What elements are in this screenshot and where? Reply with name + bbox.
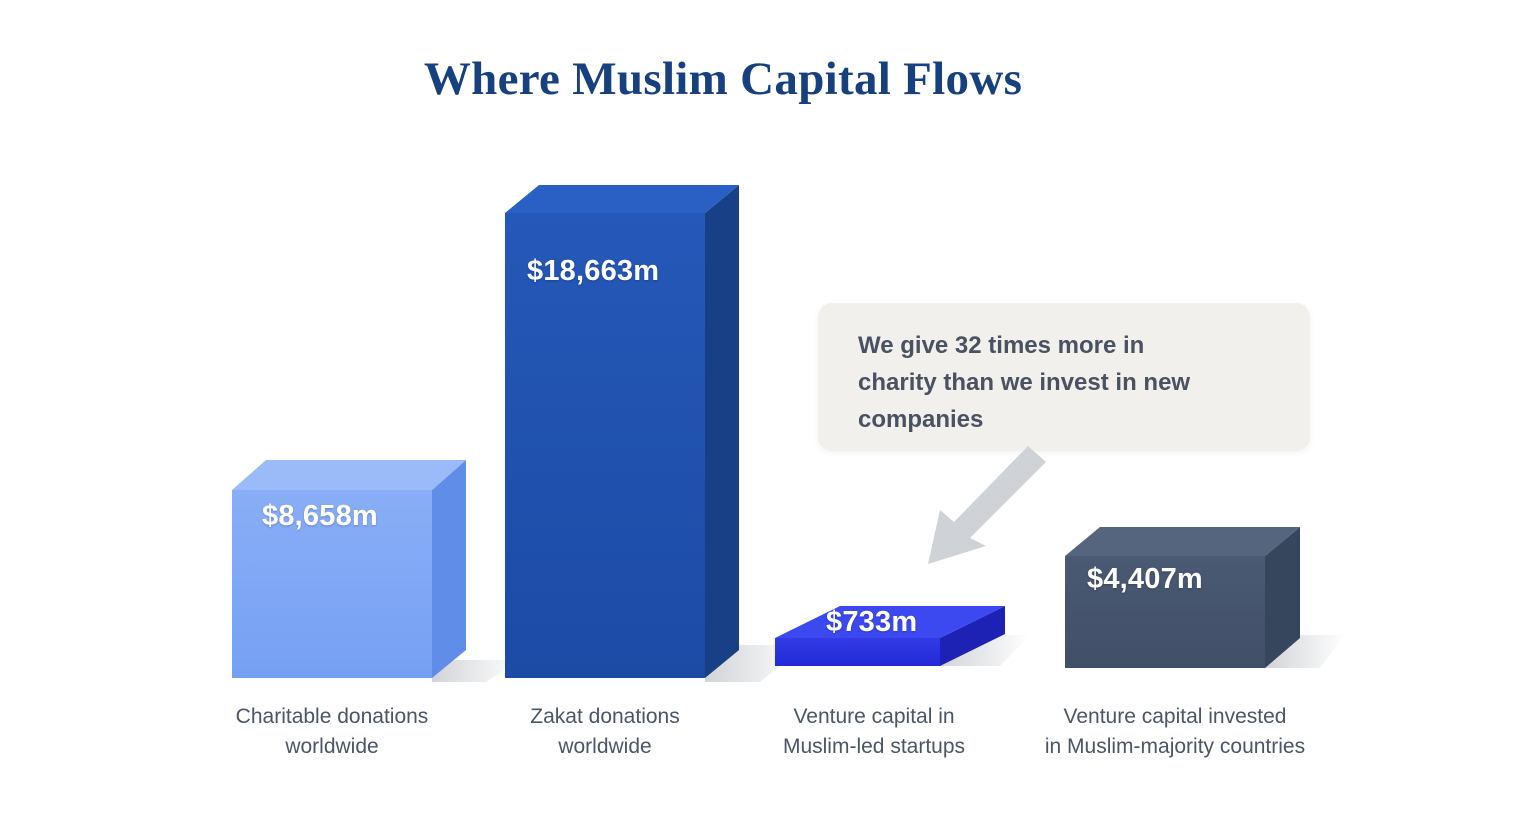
bar-zakat-donations[interactable] — [505, 185, 739, 678]
bar-4-category-label: Venture capital invested in Muslim-major… — [1022, 702, 1328, 762]
bar-1-label-line1: Charitable donations — [197, 702, 467, 732]
bar-3-category-label: Venture capital in Muslim-led startups — [748, 702, 1000, 762]
infographic-canvas: Where Muslim Capital Flows — [0, 0, 1536, 830]
bar-3-label-line2: Muslim-led startups — [748, 732, 1000, 762]
bar-1-label-line2: worldwide — [197, 732, 467, 762]
bar-1-top — [232, 460, 466, 490]
bar-2-label-line1: Zakat donations — [470, 702, 740, 732]
bar-3-label-line1: Venture capital in — [748, 702, 1000, 732]
bar-2-label-line2: worldwide — [470, 732, 740, 762]
bar-4-label-line2: in Muslim-majority countries — [1022, 732, 1328, 762]
bar-2-top — [505, 185, 739, 213]
bar-1-front — [232, 490, 432, 678]
bar-vc-muslim-majority-countries[interactable] — [1065, 527, 1300, 668]
bar-4-front — [1065, 556, 1265, 668]
bar-2-side — [705, 185, 739, 678]
bar-charitable-donations[interactable] — [232, 460, 466, 678]
bar-4-label-line1: Venture capital invested — [1022, 702, 1328, 732]
bar-2-front — [505, 213, 705, 678]
bar-2-category-label: Zakat donations worldwide — [470, 702, 740, 762]
annotation-callout: We give 32 times more in charity than we… — [818, 303, 1310, 451]
bar-1-category-label: Charitable donations worldwide — [197, 702, 467, 762]
annotation-text: We give 32 times more in charity than we… — [858, 327, 1218, 438]
bar-4-top — [1065, 527, 1300, 556]
bar-1-side — [432, 460, 466, 678]
bar-3-front — [775, 638, 940, 666]
